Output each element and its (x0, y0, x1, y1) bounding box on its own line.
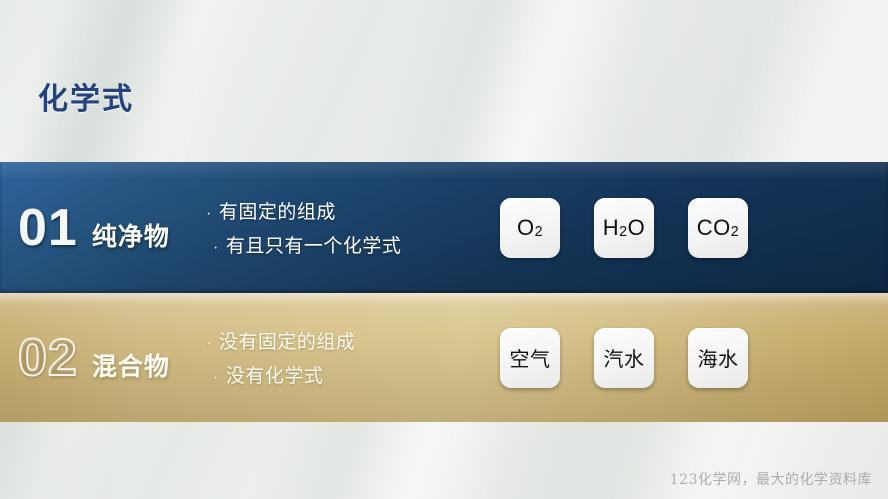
formula-sub: 2 (535, 224, 543, 240)
formula-sub: 2 (619, 224, 627, 240)
row-mixture-index-number: 02 (18, 332, 78, 384)
watermark: 123化学网，最大的化学资料库 (670, 469, 872, 489)
row-pure-substance: 01 纯净物 · 有固定的组成 · 有且只有一个化学式 O2 H2O CO2 (0, 162, 888, 293)
list-item: · 有固定的组成 (206, 197, 490, 224)
list-item: · 没有固定的组成 (206, 327, 490, 354)
bullet-text: 没有固定的组成 (219, 327, 356, 354)
row-mixture: 02 混合物 · 没有固定的组成 · 没有化学式 空气 汽水 海水 (0, 293, 888, 422)
row-mixture-index-block: 02 混合物 (0, 332, 200, 384)
example-text: 汽水 (604, 343, 645, 372)
bullet-dot-icon: · (213, 240, 219, 256)
example-card-soda[interactable]: 汽水 (594, 328, 654, 388)
list-item: · 有且只有一个化学式 (206, 231, 490, 258)
row-mixture-label: 混合物 (92, 347, 170, 383)
bullet-text: 有固定的组成 (219, 197, 336, 224)
formula-card-h2o[interactable]: H2O (594, 198, 654, 258)
formula-main: H (603, 215, 619, 241)
row-pure-formula-cards: O2 H2O CO2 (490, 198, 888, 258)
example-card-air[interactable]: 空气 (500, 328, 560, 388)
example-text: 空气 (510, 343, 551, 372)
bullet-text: 有且只有一个化学式 (226, 231, 402, 258)
formula-main: O (517, 215, 535, 241)
row-mixture-example-cards: 空气 汽水 海水 (490, 328, 888, 388)
example-text: 海水 (698, 343, 739, 372)
slide-canvas: 化学式 01 纯净物 · 有固定的组成 · 有且只有一个化学式 O2 H2O (0, 0, 888, 499)
row-pure-index-number: 01 (18, 202, 78, 254)
row-pure-label: 纯净物 (92, 217, 170, 253)
bullet-dot-icon: · (206, 336, 212, 352)
page-title: 化学式 (38, 74, 134, 118)
bullet-dot-icon: · (213, 370, 219, 386)
formula-card-co2[interactable]: CO2 (688, 198, 748, 258)
row-pure-bullet-list: · 有固定的组成 · 有且只有一个化学式 (200, 190, 490, 265)
row-pure-index-block: 01 纯净物 (0, 202, 200, 254)
list-item: · 没有化学式 (206, 361, 490, 388)
formula-tail: O (628, 215, 646, 241)
example-card-seawater[interactable]: 海水 (688, 328, 748, 388)
formula-card-o2[interactable]: O2 (500, 198, 560, 258)
row-mixture-bullet-list: · 没有固定的组成 · 没有化学式 (200, 320, 490, 395)
formula-main: CO (697, 215, 731, 241)
formula-sub: 2 (731, 224, 739, 240)
bullet-text: 没有化学式 (226, 361, 324, 388)
bullet-dot-icon: · (206, 206, 212, 222)
